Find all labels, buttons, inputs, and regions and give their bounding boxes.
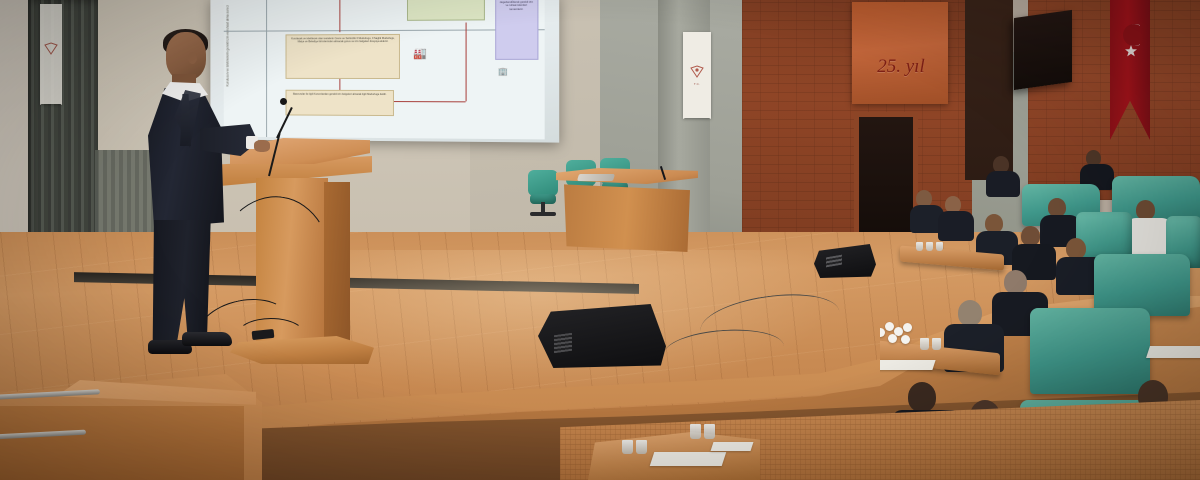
foreground-water-glasses — [622, 440, 647, 454]
screen-surface: Kurulusun ve Isletmelerin gerekli izin v… — [210, 0, 559, 143]
water-glasses-front — [920, 338, 941, 350]
chair-back — [528, 170, 558, 196]
presenter-hand — [254, 140, 270, 152]
pennant-notch — [683, 103, 711, 119]
documents — [880, 360, 936, 370]
attendee-head — [1021, 226, 1040, 246]
monitor-grille — [554, 333, 572, 354]
water-glass — [926, 242, 933, 251]
presenter-head — [166, 32, 206, 80]
attendee-head — [1004, 270, 1027, 294]
crescent-icon — [1118, 24, 1140, 46]
audience-member — [938, 196, 974, 240]
star-icon — [1124, 44, 1138, 58]
water-glass — [690, 424, 701, 439]
water-glass — [932, 338, 941, 350]
water-glass — [704, 424, 715, 439]
documents-right — [1146, 346, 1200, 358]
white-flower-arrangement — [880, 322, 918, 348]
water-glass — [916, 242, 923, 251]
slide-box-b5: Basvurular ile ilgili Kurumlardan gerekl… — [286, 90, 394, 116]
presenter-ear — [188, 52, 197, 64]
water-glass — [636, 440, 647, 454]
seat-row-3 — [1094, 254, 1190, 316]
water-glass — [920, 338, 929, 350]
gooseneck-microphone — [280, 98, 287, 105]
slide-connector-1 — [340, 0, 341, 32]
foreground-documents — [650, 452, 727, 466]
slide-connector-2 — [340, 79, 341, 90]
pennant-notch-left — [40, 89, 62, 105]
slide-connector-3 — [394, 101, 465, 102]
factory-clipart-icon: 🏭 — [413, 49, 427, 60]
attendee-body — [986, 171, 1020, 197]
slide-box-b4: Kurulacak ve isletilecek olan tesislerin… — [286, 34, 400, 79]
attendee-head — [908, 382, 936, 412]
pennant-banner-pillar: T.C. — [683, 32, 711, 118]
teal-chair-1 — [528, 170, 558, 216]
step-riser — [0, 406, 244, 480]
projection-screen: Kurulusun ve Isletmelerin gerekli izin v… — [210, 0, 559, 143]
attendee-body — [938, 211, 974, 241]
table-documents — [577, 174, 615, 181]
attendee-head — [1066, 238, 1086, 259]
audience-member — [986, 156, 1020, 196]
foreground-documents-2 — [711, 442, 754, 451]
flower — [901, 335, 910, 344]
slide-box-b2: Bilim Sanayi ve Teknoloji Il Mudurlugu t… — [407, 0, 485, 21]
institution-emblem-icon-left — [43, 42, 59, 56]
anniversary-label: 25. yıl — [856, 56, 946, 78]
flower — [885, 322, 894, 331]
flower — [888, 334, 897, 343]
building-clipart-icon: 🏢 — [498, 68, 508, 76]
institution-emblem-icon — [689, 65, 705, 79]
water-glasses — [916, 242, 943, 251]
water-glass — [936, 242, 943, 251]
attendee-head — [958, 300, 982, 326]
slide-content: Kurulusun ve Isletmelerin gerekli izin v… — [224, 0, 545, 140]
slide-connector-4 — [465, 23, 466, 102]
wall-mounted-speaker — [1014, 10, 1072, 90]
foreground-water-glasses-2 — [690, 424, 715, 439]
anniversary-wood-panel — [852, 2, 948, 104]
flower — [903, 323, 912, 332]
water-glass — [622, 440, 633, 454]
attendee-head — [1136, 200, 1155, 220]
slide-box-b6: Isyeri Acma ve Calisma Ruhsati ile Gayri… — [495, 0, 538, 60]
table-front-panel — [564, 180, 690, 252]
chair-base — [530, 212, 556, 216]
pennant-banner-left — [40, 4, 62, 104]
pennant-label: T.C. — [683, 82, 711, 86]
auditorium-presentation-photo: 25. yıl T.C. Kurulusun ve Isletmelerin g… — [0, 0, 1200, 480]
panel-table — [556, 168, 698, 258]
flower — [880, 328, 885, 337]
